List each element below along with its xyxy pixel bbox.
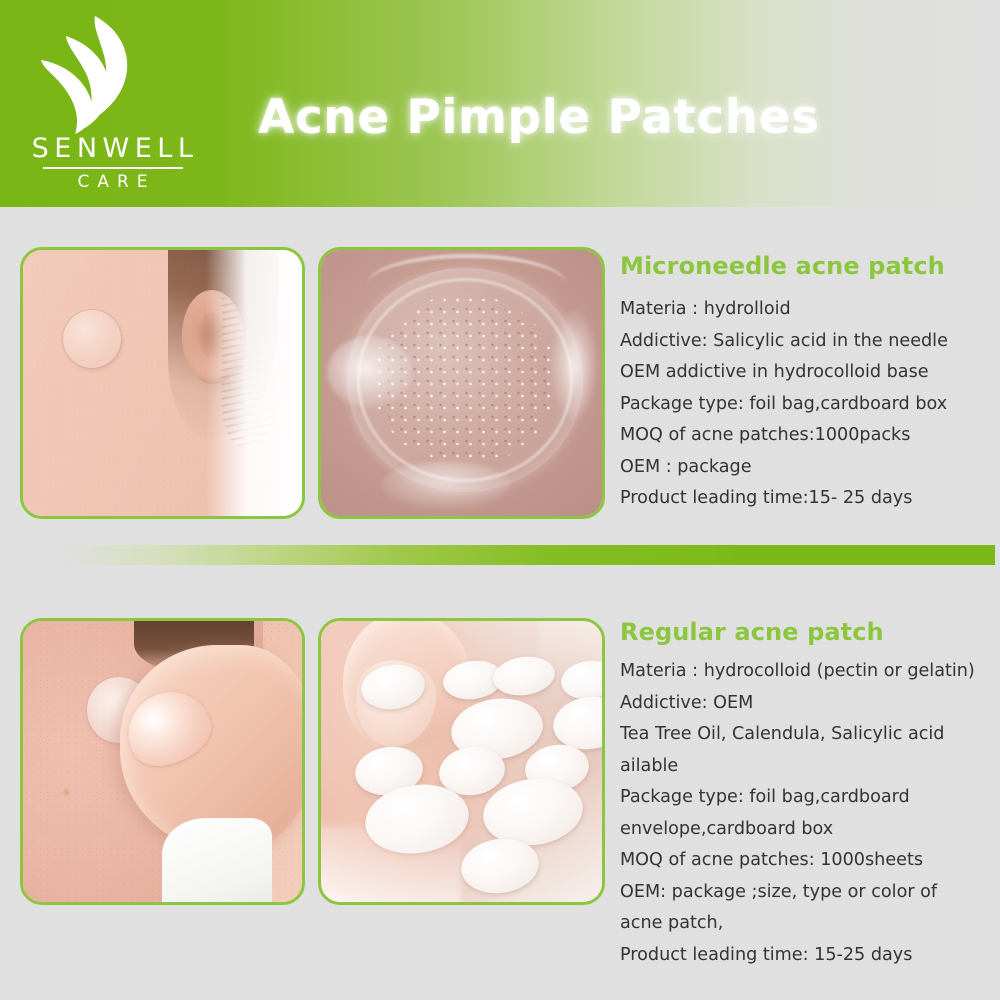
- photo-cheek-with-patch: [20, 247, 305, 519]
- spec-line: Addictive: OEM: [620, 688, 992, 720]
- regular-heading: Regular acne patch: [620, 618, 992, 646]
- brand-logo: SENWELL CARE: [25, 14, 200, 194]
- brand-divider: [43, 167, 183, 169]
- microneedle-heading: Microneedle acne patch: [620, 252, 992, 280]
- page-title: Acne Pimple Patches: [258, 90, 820, 145]
- brand-wordmark: SENWELL CARE: [25, 134, 200, 191]
- spec-line: OEM: package ;size, type or color of: [620, 877, 992, 909]
- spec-line: Product leading time: 15-25 days: [620, 940, 992, 972]
- page-content: Microneedle acne patch Materia : hydroll…: [0, 207, 1000, 1000]
- photo-microneedle-closeup: [318, 247, 605, 519]
- acne-patch-on-skin: [63, 310, 121, 368]
- spec-line: OEM addictive in hydrocolloid base: [620, 357, 992, 389]
- spec-line: Tea Tree Oil, Calendula, Salicylic acid …: [620, 719, 992, 782]
- page-header: SENWELL CARE Acne Pimple Patches: [0, 0, 1000, 207]
- spec-line: OEM : package: [620, 452, 992, 484]
- spec-line: Product leading time:15- 25 days: [620, 483, 992, 515]
- photo-finger-applying-patch: [20, 618, 305, 905]
- spec-line: acne patch,: [620, 908, 992, 940]
- regular-text-panel: Regular acne patch Materia : hydrocolloi…: [620, 618, 992, 971]
- spec-line: Package type: foil bag,cardboard: [620, 782, 992, 814]
- senwell-flame-logo-icon: [33, 14, 173, 136]
- spec-line: Package type: foil bag,cardboard box: [620, 389, 992, 421]
- section-divider: [0, 545, 995, 565]
- spec-line: Materia : hydrolloid: [620, 294, 992, 326]
- spec-line: Materia : hydrocolloid (pectin or gelati…: [620, 656, 992, 688]
- brand-subtitle: CARE: [25, 173, 200, 191]
- product-infographic-page: SENWELL CARE Acne Pimple Patches: [0, 0, 1000, 1000]
- spec-line: MOQ of acne patches:1000packs: [620, 420, 992, 452]
- spec-line: envelope,cardboard box: [620, 814, 992, 846]
- spec-line: Addictive: Salicylic acid in the needle: [620, 326, 992, 358]
- microneedle-text-panel: Microneedle acne patch Materia : hydroll…: [620, 252, 992, 515]
- brand-name: SENWELL: [25, 134, 200, 164]
- photo-patch-sheet: [318, 618, 605, 905]
- spec-line: MOQ of acne patches: 1000sheets: [620, 845, 992, 877]
